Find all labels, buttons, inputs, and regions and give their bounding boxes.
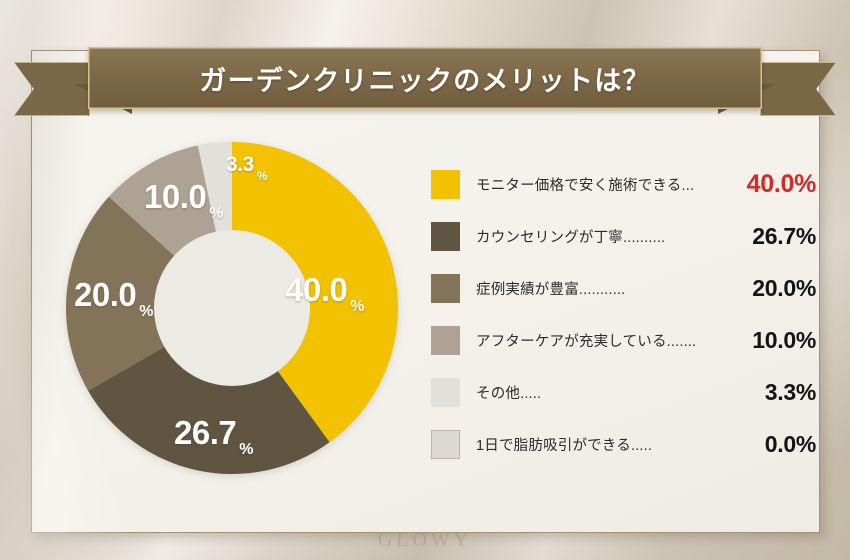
slice-label-4-unit: % [257, 170, 268, 182]
legend-row[interactable]: 1日で脂肪吸引ができる.....0.0% [431, 428, 816, 461]
slice-label-4: 3.3 % [226, 154, 267, 175]
slice-label-1-unit: % [239, 442, 253, 458]
donut-chart: 40.0 % 26.7 % 20.0 % 10.0 % 3.3 % [62, 138, 402, 478]
legend-swatch-0 [431, 170, 460, 199]
legend-value-3: 10.0% [724, 327, 816, 354]
legend-label-5: 1日で脂肪吸引ができる..... [476, 434, 724, 455]
legend-swatch-4 [431, 378, 460, 407]
legend-swatch-3 [431, 326, 460, 355]
slice-label-3: 10.0 % [144, 180, 223, 213]
legend-label-4: その他..... [476, 382, 724, 403]
legend-row[interactable]: その他.....3.3% [431, 376, 816, 409]
slice-label-1: 26.7 % [174, 416, 253, 449]
slice-label-0-unit: % [350, 299, 364, 315]
legend-label-0: モニター価格で安く施術できる... [476, 174, 724, 195]
legend-row[interactable]: 症例実績が豊富...........20.0% [431, 272, 816, 305]
slice-label-3-value: 10.0 [144, 180, 206, 213]
chart-legend: モニター価格で安く施術できる...40.0%カウンセリングが丁寧........… [431, 168, 816, 461]
title-ribbon: ガーデンクリニックのメリットは？ [0, 22, 850, 114]
legend-label-2: 症例実績が豊富........... [476, 278, 724, 299]
watermark: GLOWY [0, 529, 850, 552]
ribbon-tail-right [760, 62, 836, 116]
slice-label-3-unit: % [209, 206, 223, 222]
slice-label-2-value: 20.0 [74, 278, 136, 311]
slice-label-0-value: 40.0 [285, 273, 347, 306]
legend-label-1: カウンセリングが丁寧.......... [476, 226, 724, 247]
legend-swatch-5 [431, 430, 460, 459]
slide-background: ガーデンクリニックのメリットは？ 40.0 % 26.7 % 20.0 % 10… [0, 0, 850, 560]
legend-row[interactable]: カウンセリングが丁寧..........26.7% [431, 220, 816, 253]
slice-label-1-value: 26.7 [174, 416, 236, 449]
legend-value-2: 20.0% [724, 275, 816, 302]
legend-swatch-1 [431, 222, 460, 251]
slice-label-2: 20.0 % [74, 278, 153, 311]
banner-plate: ガーデンクリニックのメリットは？ [88, 47, 762, 109]
donut-hole [154, 230, 310, 386]
slice-label-2-unit: % [139, 304, 153, 320]
ribbon-tail-left [14, 62, 90, 116]
legend-value-5: 0.0% [724, 431, 816, 458]
slice-label-4-value: 3.3 [226, 154, 254, 175]
legend-value-1: 26.7% [724, 223, 816, 250]
page-title: ガーデンクリニックのメリットは？ [199, 59, 650, 98]
legend-value-4: 3.3% [724, 379, 816, 406]
legend-row[interactable]: モニター価格で安く施術できる...40.0% [431, 168, 816, 201]
slice-label-0: 40.0 % [285, 273, 364, 306]
legend-label-3: アフターケアが充実している....... [476, 330, 724, 351]
legend-swatch-2 [431, 274, 460, 303]
legend-row[interactable]: アフターケアが充実している.......10.0% [431, 324, 816, 357]
legend-value-0: 40.0% [724, 170, 816, 199]
